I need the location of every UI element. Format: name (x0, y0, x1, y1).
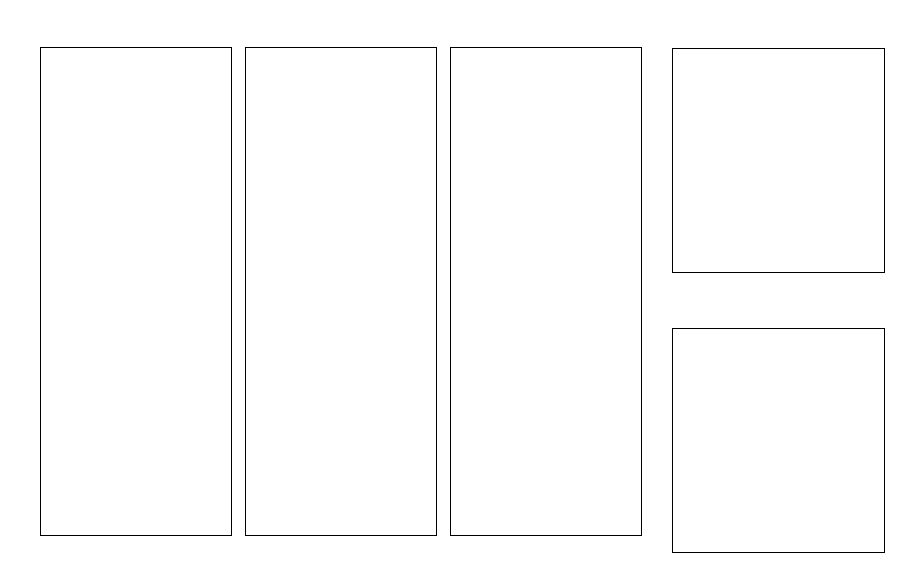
temperature-yticklabels (0, 47, 36, 536)
sst-map-panel (672, 48, 885, 273)
sla-map-panel (672, 328, 885, 553)
difference-plot-svg (450, 47, 642, 536)
salinity-plot-svg (245, 47, 437, 536)
temperature-plot-svg (40, 47, 232, 536)
sst-map-yticklabels (636, 48, 669, 273)
sla-map-yticklabels (636, 328, 669, 553)
sst-map-svg (673, 49, 884, 272)
sla-map-svg (673, 329, 884, 552)
